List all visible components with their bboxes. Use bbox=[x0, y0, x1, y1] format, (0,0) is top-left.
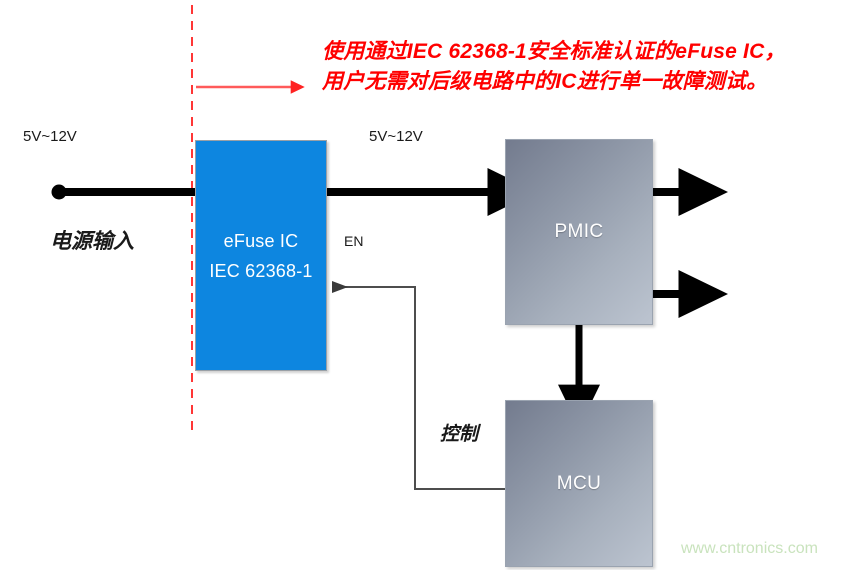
annotation-text: 使用通过IEC 62368-1安全标准认证的eFuse IC， 用户无需对后级电… bbox=[322, 37, 842, 97]
mcu-control-to-efuse-path bbox=[336, 287, 505, 489]
enable-pin-label: EN bbox=[344, 233, 363, 249]
mcu-label: MCU bbox=[557, 473, 601, 495]
block-mcu[interactable]: MCU bbox=[505, 400, 653, 567]
efuse-label-line-2: IEC 62368-1 bbox=[209, 256, 312, 286]
diagram-canvas: 使用通过IEC 62368-1安全标准认证的eFuse IC， 用户无需对后级电… bbox=[0, 0, 864, 570]
block-efuse-ic[interactable]: eFuse IC IEC 62368-1 bbox=[195, 140, 327, 371]
efuse-label-line-1: eFuse IC bbox=[224, 226, 299, 256]
power-input-label: 电源输入 bbox=[50, 225, 134, 255]
annotation-line-2: 用户无需对后级电路中的IC进行单一故障测试。 bbox=[322, 67, 842, 97]
voltage-input-label: 5V~12V bbox=[23, 128, 77, 145]
pmic-label: PMIC bbox=[554, 221, 603, 243]
site-watermark: www.cntronics.com bbox=[681, 540, 818, 558]
control-signal-label: 控制 bbox=[440, 419, 478, 446]
voltage-output-label: 5V~12V bbox=[369, 128, 423, 145]
block-pmic[interactable]: PMIC bbox=[505, 139, 653, 325]
annotation-line-1: 使用通过IEC 62368-1安全标准认证的eFuse IC， bbox=[322, 37, 842, 67]
